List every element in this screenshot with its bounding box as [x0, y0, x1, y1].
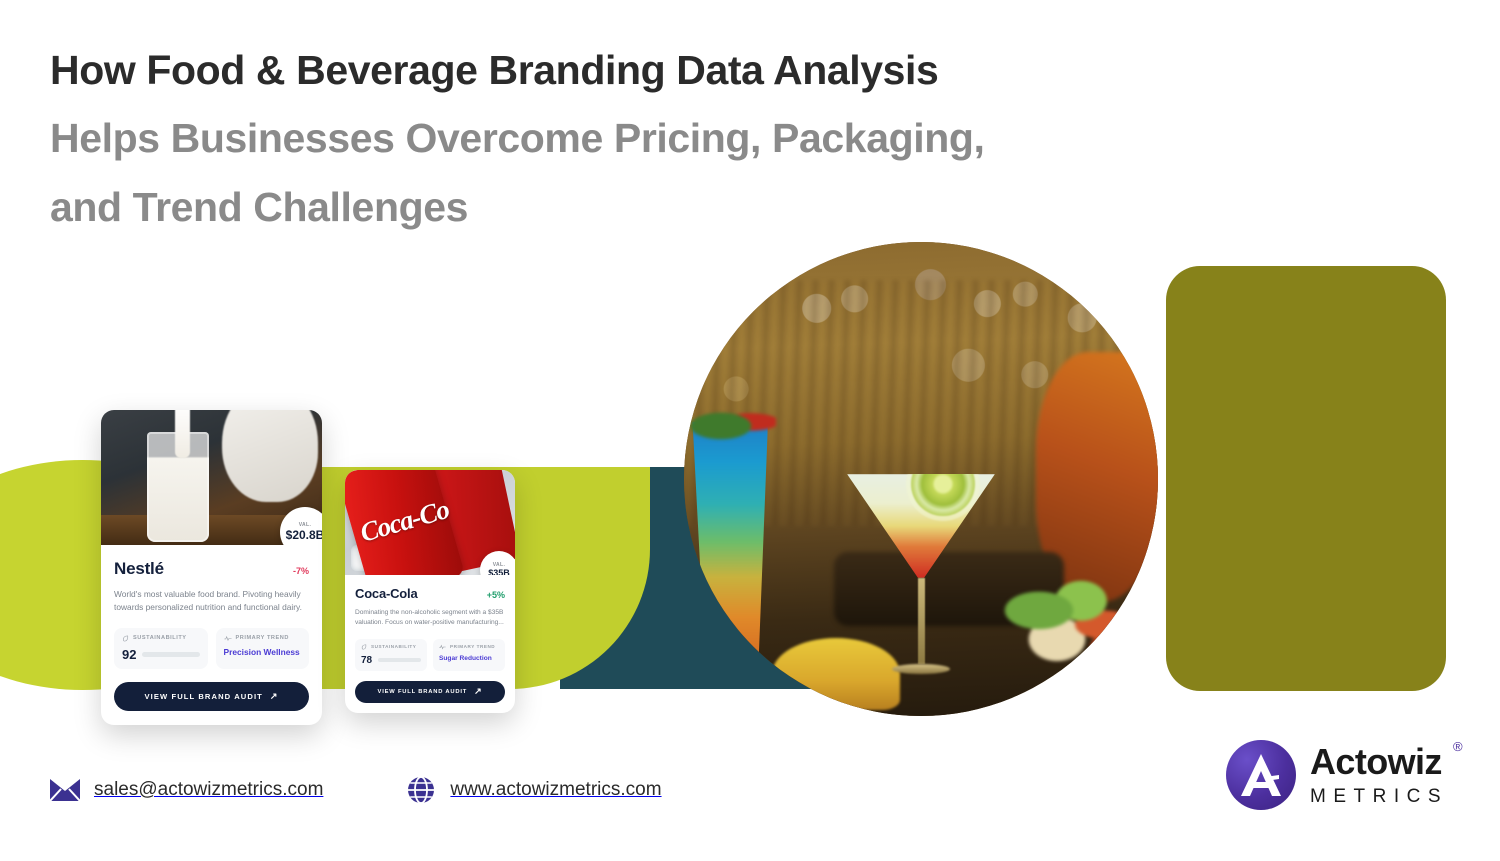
milk-pouring-photo: VAL. $20.8B [101, 410, 322, 545]
card-body: Nestlé -7% World's most valuable food br… [101, 545, 322, 723]
audit-button-label: VIEW FULL BRAND AUDIT [378, 689, 468, 695]
contact-website[interactable]: www.actowizmetrics.com [406, 775, 661, 805]
page-title: How Food & Beverage Branding Data Analys… [50, 36, 1170, 241]
card-stats: SUSTAINABILITY 78 PRIMARY TREND Sugar Re… [355, 639, 505, 671]
registered-trademark-icon: ® [1453, 740, 1462, 753]
title-line-3: and Trend Challenges [50, 173, 1170, 241]
milk-jug [222, 410, 318, 502]
logo-text: Actowiz ® METRICS [1310, 744, 1448, 806]
sustainability-bar [142, 652, 199, 657]
website-text: www.actowizmetrics.com [450, 779, 661, 801]
title-line-1: How Food & Beverage Branding Data Analys… [50, 36, 1170, 104]
leaf-icon [122, 635, 129, 642]
stat-value: 78 [361, 655, 372, 666]
martini-base [892, 664, 950, 674]
brand-delta: -7% [293, 566, 309, 576]
martini-stem [918, 578, 925, 664]
trend-value: Precision Wellness [224, 647, 302, 657]
footer-contacts: sales@actowizmetrics.com www.actowizmetr… [50, 775, 662, 805]
stat-primary-trend: PRIMARY TREND Precision Wellness [216, 628, 310, 669]
globe-icon [406, 775, 436, 805]
pulse-icon [439, 644, 446, 650]
cocktail-bar-photo [684, 242, 1158, 716]
pulse-icon [224, 635, 232, 642]
card-stats: SUSTAINABILITY 92 PRIMARY TREND Precisio… [114, 628, 309, 669]
email-text: sales@actowizmetrics.com [94, 779, 323, 801]
valuation-amount: $35B [488, 568, 510, 575]
card-header: Nestlé -7% [114, 559, 309, 579]
martini-bowl [847, 474, 995, 578]
stat-row: 78 [361, 655, 421, 666]
title-line-2: Helps Businesses Overcome Pricing, Packa… [50, 104, 1170, 172]
logo-subtitle: METRICS [1310, 787, 1448, 806]
stat-header: SUSTAINABILITY [361, 644, 421, 650]
valuation-amount: $20.8B [286, 528, 322, 542]
brand-description: Dominating the non-alcoholic segment wit… [355, 608, 505, 629]
sustainability-bar [378, 658, 421, 662]
stat-label: PRIMARY TREND [236, 635, 289, 641]
decor-olive-panel [1166, 266, 1446, 691]
actowiz-metrics-logo: Actowiz ® METRICS [1226, 740, 1448, 810]
card-body: Coca-Cola +5% Dominating the non-alcohol… [345, 575, 515, 713]
stat-sustainability: SUSTAINABILITY 78 [355, 639, 427, 671]
card-header: Coca-Cola +5% [355, 586, 505, 601]
stat-header: PRIMARY TREND [224, 635, 302, 642]
letter-a-icon [1235, 751, 1287, 799]
stat-header: PRIMARY TREND [439, 644, 499, 650]
view-full-brand-audit-button[interactable]: VIEW FULL BRAND AUDIT ↗ [114, 682, 309, 711]
brand-card-coca-cola[interactable]: Coca-Co VAL. $35B Coca-Cola +5% Dominati… [345, 470, 515, 713]
milk-pour-stream [175, 410, 190, 458]
view-full-brand-audit-button[interactable]: VIEW FULL BRAND AUDIT ↗ [355, 681, 505, 703]
brand-name: Coca-Cola [355, 586, 418, 601]
brand-card-nestle[interactable]: VAL. $20.8B Nestlé -7% World's most valu… [101, 410, 322, 725]
photo-rainbow-glass-garnish [684, 402, 776, 442]
arrow-up-right-icon: ↗ [474, 686, 482, 697]
stat-row: 92 [122, 647, 200, 662]
brand-description: World's most valuable food brand. Pivoti… [114, 588, 309, 615]
leaf-icon [361, 644, 367, 650]
trend-value: Sugar Reduction [439, 655, 499, 662]
brand-name: Nestlé [114, 559, 164, 579]
stat-primary-trend: PRIMARY TREND Sugar Reduction [433, 639, 505, 671]
stat-label: PRIMARY TREND [450, 644, 495, 649]
audit-button-label: VIEW FULL BRAND AUDIT [144, 692, 262, 701]
photo-salad [994, 572, 1144, 668]
logo-wordmark: Actowiz ® [1310, 744, 1448, 780]
stat-label: SUSTAINABILITY [133, 635, 187, 641]
logo-mark-circle [1226, 740, 1296, 810]
logo-name: Actowiz [1310, 741, 1442, 782]
stat-header: SUSTAINABILITY [122, 635, 200, 642]
contact-email[interactable]: sales@actowizmetrics.com [50, 775, 323, 805]
coca-cola-cans-photo: Coca-Co VAL. $35B [345, 470, 515, 575]
stat-label: SUSTAINABILITY [371, 644, 416, 649]
envelope-icon [50, 775, 80, 805]
stat-sustainability: SUSTAINABILITY 92 [114, 628, 208, 669]
photo-martini-glass [847, 474, 995, 674]
arrow-up-right-icon: ↗ [270, 691, 279, 702]
brand-delta: +5% [487, 590, 505, 600]
stat-value: 92 [122, 647, 136, 662]
